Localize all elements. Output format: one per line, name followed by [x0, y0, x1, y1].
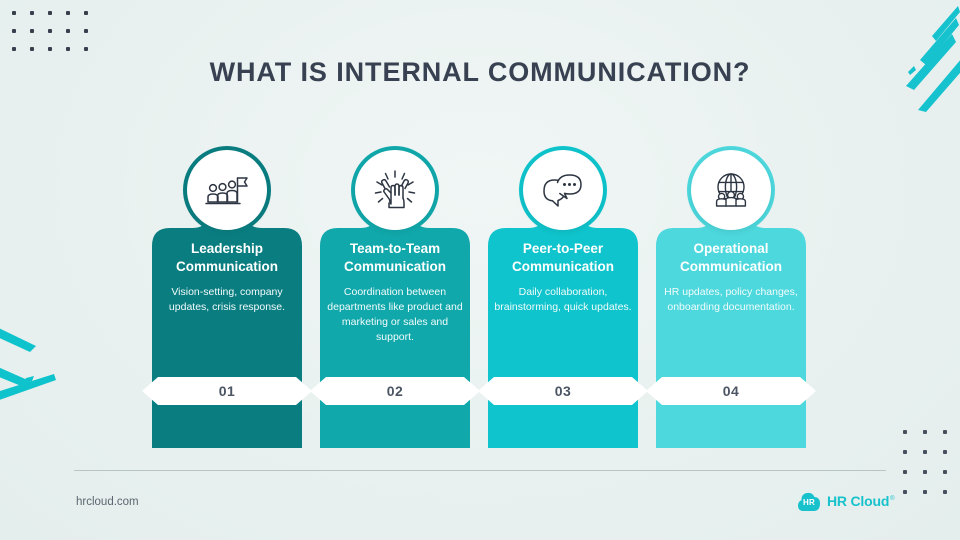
- logo-mark-text: HR: [797, 492, 821, 512]
- leader-with-flag-icon: [187, 150, 267, 230]
- card-title: Team-to-Team Communication: [326, 240, 464, 276]
- page-title: WHAT IS INTERNAL COMMUNICATION?: [0, 57, 960, 88]
- card-number-ribbon: 03: [478, 375, 648, 407]
- logo-word-text: HR Cloud: [827, 493, 889, 509]
- card-title: Leadership Communication: [158, 240, 296, 276]
- card-description: Coordination between departments like pr…: [326, 285, 464, 345]
- card-number: 01: [142, 375, 312, 407]
- card-text: Team-to-Team Communication Coordination …: [320, 240, 470, 345]
- card-number: 04: [646, 375, 816, 407]
- card-operational-communication[interactable]: Operational Communication HR updates, po…: [656, 150, 806, 420]
- hr-cloud-logo[interactable]: HR HR Cloud®: [797, 492, 895, 512]
- card-number: 02: [310, 375, 480, 407]
- card-title: Peer-to-Peer Communication: [494, 240, 632, 276]
- brush-strokes-decoration-left: [0, 312, 72, 427]
- footer-website-url[interactable]: hrcloud.com: [76, 496, 139, 508]
- logo-wordmark: HR Cloud®: [827, 493, 895, 511]
- card-text: Leadership Communication Vision-setting,…: [152, 240, 302, 315]
- speech-bubbles-icon: [523, 150, 603, 230]
- cloud-badge-icon: HR: [797, 492, 821, 512]
- card-number: 03: [478, 375, 648, 407]
- card-title: Operational Communication: [662, 240, 800, 276]
- card-text: Operational Communication HR updates, po…: [656, 240, 806, 315]
- footer-divider: [74, 470, 886, 471]
- card-number-ribbon: 04: [646, 375, 816, 407]
- dot-grid-decoration-top-left: [12, 11, 88, 51]
- card-number-ribbon: 01: [142, 375, 312, 407]
- card-description: Vision-setting, company updates, crisis …: [158, 285, 296, 315]
- card-description: HR updates, policy changes, onboarding d…: [662, 285, 800, 315]
- cards-container: Leadership Communication Vision-setting,…: [152, 150, 808, 420]
- card-description: Daily collaboration, brainstorming, quic…: [494, 285, 632, 315]
- slide-canvas: WHAT IS INTERNAL COMMUNICATION?: [0, 0, 960, 540]
- globe-people-icon: [691, 150, 771, 230]
- card-number-ribbon: 02: [310, 375, 480, 407]
- card-text: Peer-to-Peer Communication Daily collabo…: [488, 240, 638, 315]
- card-peer-to-peer-communication[interactable]: Peer-to-Peer Communication Daily collabo…: [488, 150, 638, 420]
- card-leadership-communication[interactable]: Leadership Communication Vision-setting,…: [152, 150, 302, 420]
- dot-grid-decoration-bottom-right: [903, 430, 960, 494]
- card-team-to-team-communication[interactable]: Team-to-Team Communication Coordination …: [320, 150, 470, 420]
- joined-hands-icon: [355, 150, 435, 230]
- logo-registered-mark: ®: [890, 496, 894, 502]
